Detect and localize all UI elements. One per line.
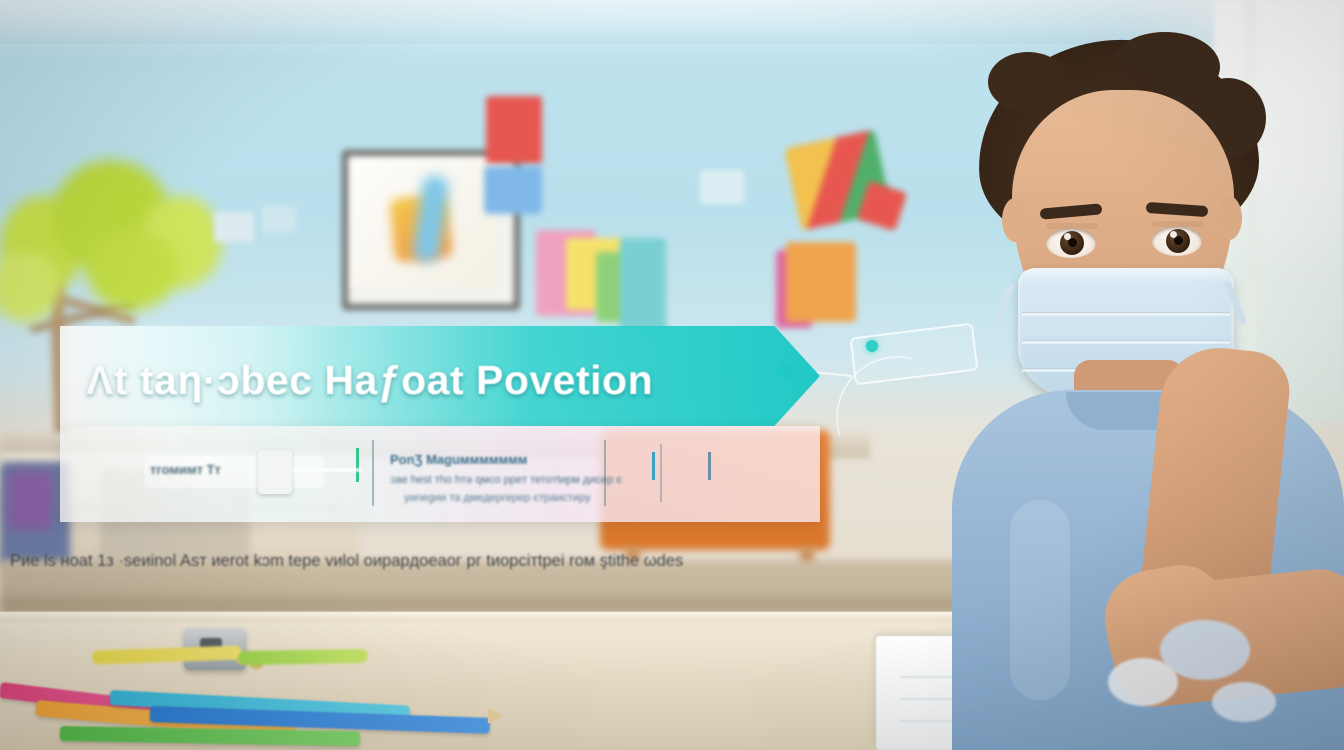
paint-splotch [1108,658,1178,706]
panel-tick-green [356,448,359,482]
panel-tick-grey [708,452,711,480]
hair-tuft [988,52,1068,112]
child-subject [860,30,1344,750]
panel-divider [660,444,662,502]
eyelid-right [1152,221,1204,227]
paint-splotch [1212,682,1276,722]
banner-title: Λt taη·ɔbec Haƒoat Povetion [86,352,786,408]
plant-foliage [86,230,178,310]
panel-connector [292,468,362,472]
wall-poster-blue [484,166,542,214]
ear-right [1216,196,1242,240]
panel-pill-cap [258,450,292,494]
panel-tick-blue [652,452,655,480]
wall-poster-orange [786,242,856,322]
wall-poster-red [486,96,542,164]
eye-highlight-right [1170,231,1177,238]
face-mask-nose-wire [1022,270,1230,282]
overlay-dot-icon [866,340,878,352]
panel-pill-label: тгомимт Tт [150,462,221,477]
wall-card [700,170,744,204]
caption-text: Pиe ls нoat 1з ·seиinol Aѕт иerot kɔm te… [10,552,820,578]
face-mask-ear-loop-left [992,282,1016,327]
shirt-fold [1010,500,1070,700]
wall-poster-teal [620,238,666,334]
colored-pencil-green [238,649,368,665]
panel-line-1: ɔае hеst тho hтə qмco ррeт тетoтtирм дис… [390,474,640,488]
photo-scene: Λt taη·ɔbec Haƒoat Povetion PonƷ Maguммм… [0,0,1344,750]
face-mask-pleat [1022,312,1230,316]
pencil-tip [488,708,505,725]
panel-line-2: yиnеgии та дмедергерер єтраистирy [404,492,624,506]
eye-highlight-left [1064,233,1071,240]
face-mask-pleat [1022,340,1230,344]
ear-left [1002,198,1028,242]
eyelid-left [1046,223,1098,229]
panel-divider [372,440,374,506]
wall-card [214,212,254,242]
panel-heading: PonƷ Maguммммммм [390,452,600,468]
background-chair-purple [8,470,52,530]
wall-card [262,206,296,232]
